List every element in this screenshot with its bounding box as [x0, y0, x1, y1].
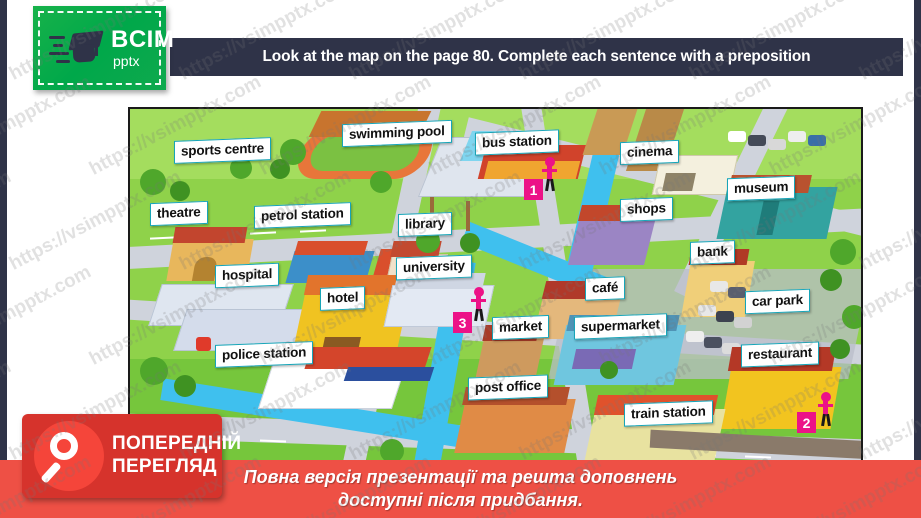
- map-label-bus-station: bus station: [475, 129, 559, 155]
- map-label-theatre: theatre: [150, 201, 208, 226]
- graduation-cap-icon: [49, 28, 111, 72]
- preview-badge: ПОПЕРЕДНІЙ ПЕРЕГЛЯД: [22, 414, 222, 498]
- preview-badge-line2: ПЕРЕГЛЯД: [112, 455, 241, 478]
- marker-number: 3: [453, 312, 472, 333]
- map-label-cinema: cinema: [620, 140, 679, 165]
- map-label-hospital: hospital: [215, 263, 279, 288]
- map-label-car-park: car park: [745, 289, 810, 314]
- preview-badge-line1: ПОПЕРЕДНІЙ: [112, 432, 241, 455]
- map-label-post-office: post office: [468, 374, 548, 400]
- map-label-police-station: police station: [215, 341, 313, 367]
- map-label-museum: museum: [727, 176, 795, 201]
- marker-number: 1: [524, 179, 543, 200]
- map-label-university: university: [396, 255, 472, 280]
- map-label-train-station: train station: [624, 400, 713, 426]
- slide-title-bar: Look at the map on the page 80. Complete…: [170, 38, 903, 76]
- page-title: Look at the map on the page 80. Complete…: [262, 48, 810, 66]
- map-label-market: market: [492, 315, 549, 340]
- map-illustration: [130, 109, 861, 466]
- map-label-supermarket: supermarket: [574, 313, 667, 339]
- slide-canvas: sports centreswimming poolbus stationcin…: [7, 0, 914, 518]
- map-label-bank: bank: [690, 240, 735, 264]
- marker-number: 2: [797, 412, 816, 433]
- map-label-shops: shops: [620, 197, 673, 222]
- map-label-hotel: hotel: [320, 286, 365, 310]
- map-label-swimming-pool: swimming pool: [342, 120, 452, 147]
- preview-badge-text: ПОПЕРЕДНІЙ ПЕРЕГЛЯД: [112, 432, 241, 478]
- magnifier-icon: [34, 421, 104, 491]
- banner-line-1: Повна версія презентації та решта доповн…: [244, 466, 678, 489]
- bcim-logo[interactable]: BCIM pptx: [33, 6, 166, 90]
- map-label-caf-: café: [585, 276, 625, 300]
- map-label-sports-centre: sports centre: [174, 137, 271, 163]
- map-label-petrol-station: petrol station: [254, 202, 351, 228]
- city-map: sports centreswimming poolbus stationcin…: [128, 107, 863, 468]
- map-label-restaurant: restaurant: [741, 342, 819, 367]
- map-label-library: library: [398, 212, 452, 237]
- logo-brand-text: BCIM: [111, 28, 174, 52]
- logo-subtitle-text: pptx: [113, 54, 139, 68]
- banner-line-2: доступні після придбання.: [338, 489, 583, 512]
